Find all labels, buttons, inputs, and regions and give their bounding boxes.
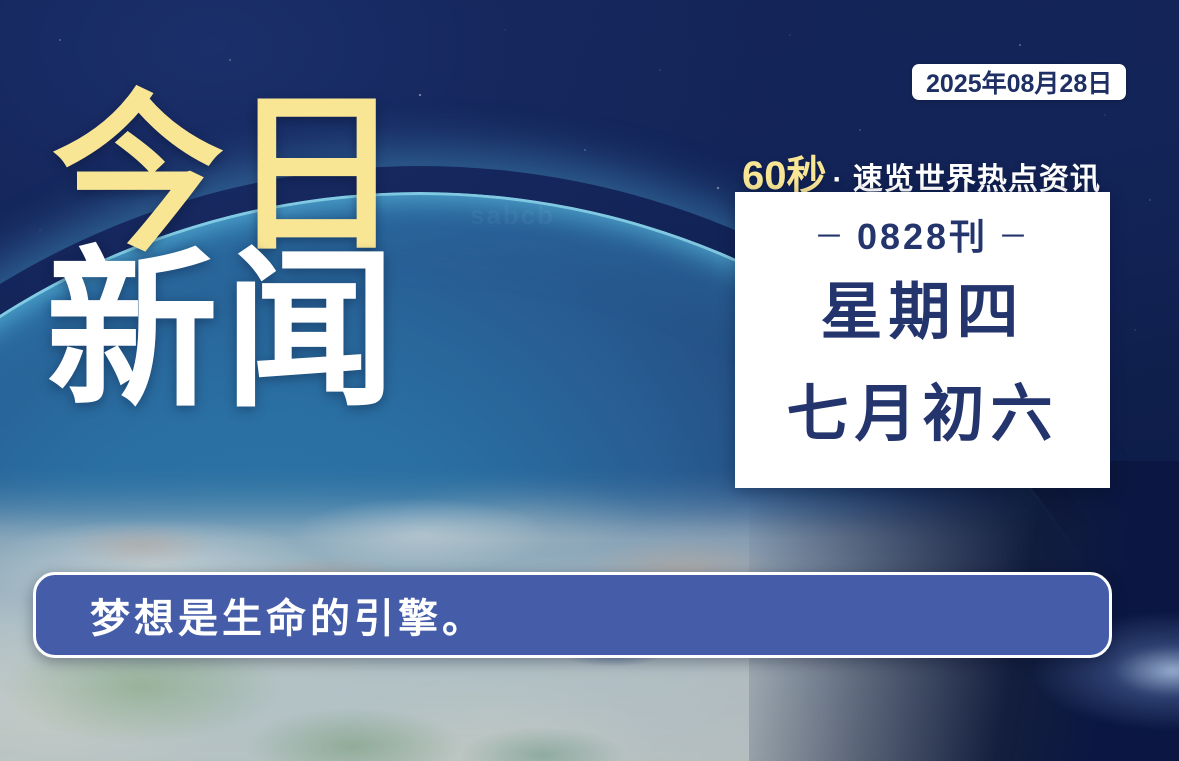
issue-row: － 0828刊 － [814,208,1031,260]
lunar-date-label: 七月初六 [786,384,1058,446]
issue-dash-right: － [998,212,1031,256]
brand-title-line1: 今日 [52,96,408,256]
quote-text: 梦想是生命的引擎。 [90,586,486,644]
date-badge: 2025年08月28日 [912,64,1126,100]
issue-number: 0828刊 [857,208,988,260]
news-poster: sabcb 今日 新闻 2025年08月28日 60秒 · 速览世界热点资讯 －… [0,0,1179,761]
date-info-card: － 0828刊 － 星期四 七月初六 [735,192,1110,488]
brand-title: 今日 新闻 [52,96,408,412]
quote-bar: 梦想是生命的引擎。 [33,572,1112,658]
weekday-label: 星期四 [820,282,1024,344]
watermark-text: sabcb [470,200,555,231]
issue-dash-left: － [814,212,847,256]
brand-title-line2: 新闻 [46,252,408,412]
